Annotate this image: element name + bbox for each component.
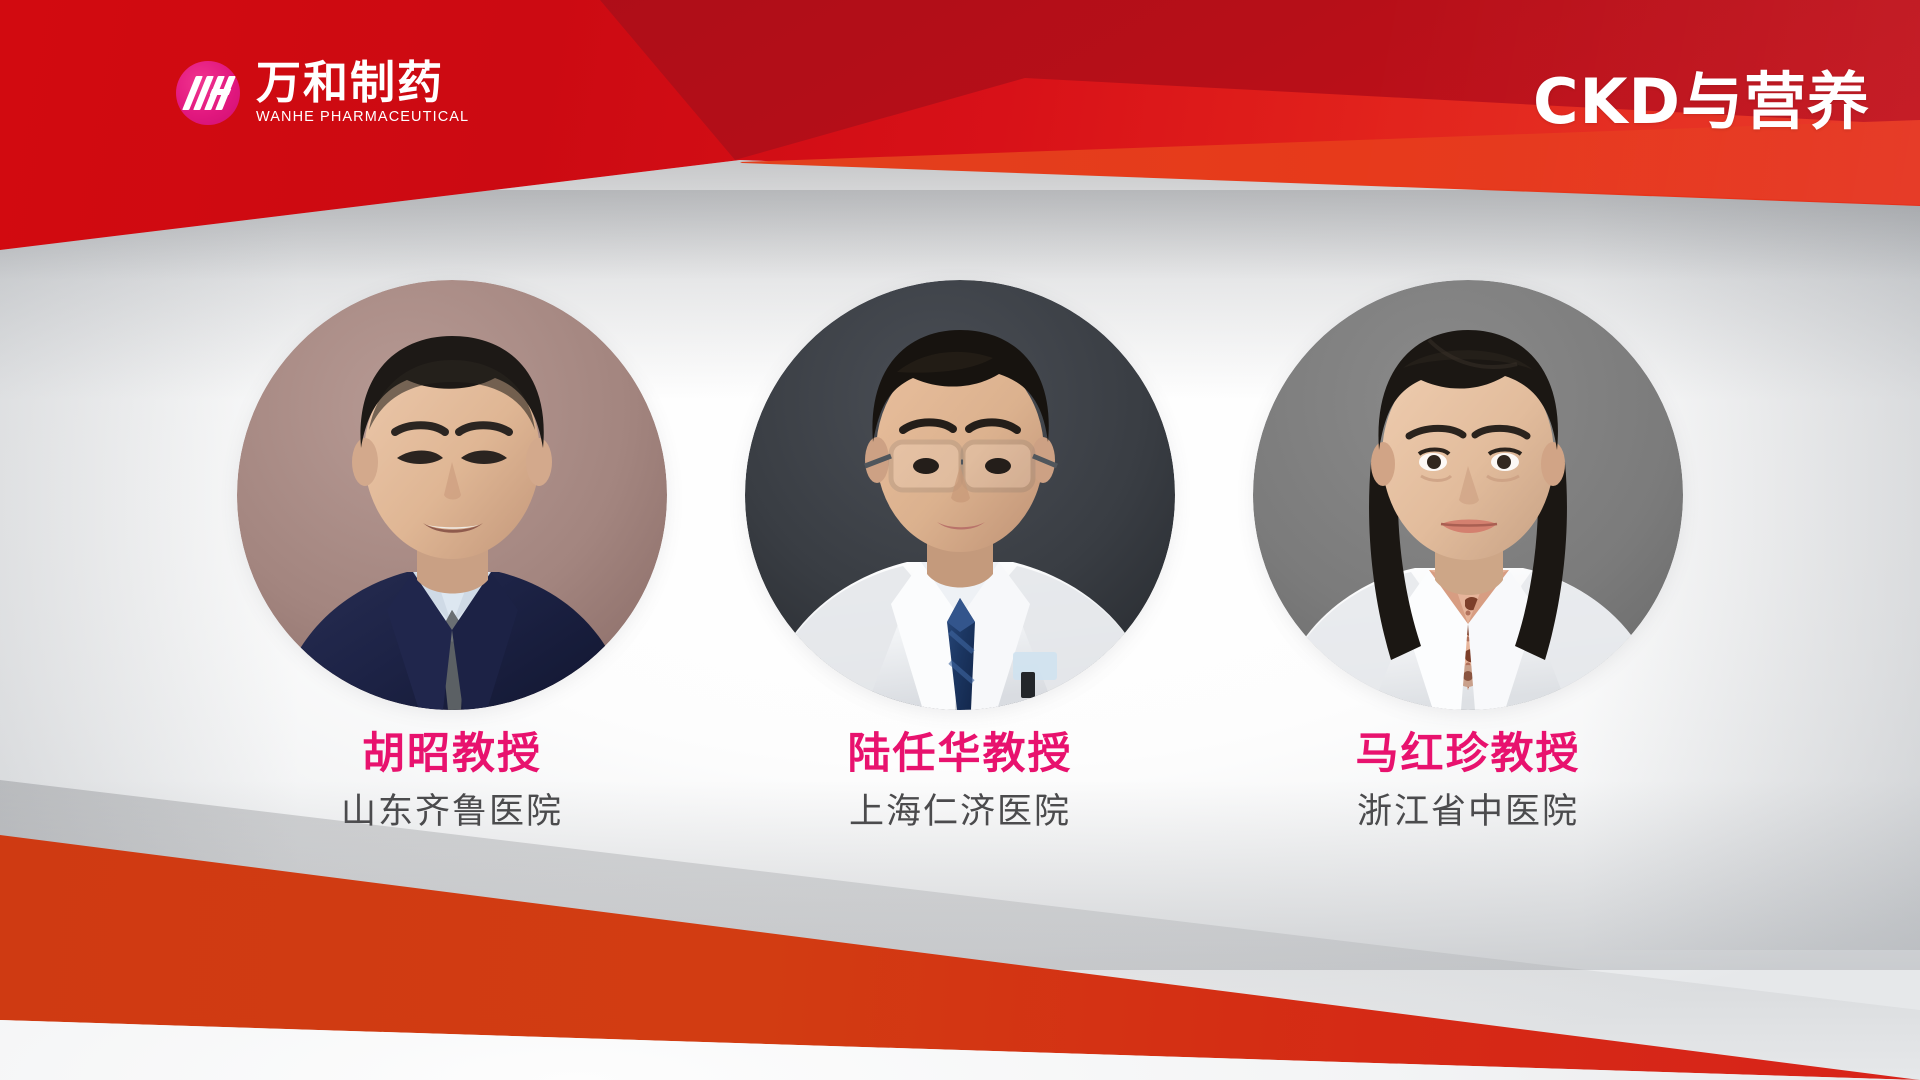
speaker-card[interactable]: 陆任华教授 上海仁济医院 bbox=[745, 280, 1175, 833]
speaker-name: 陆任华教授 bbox=[848, 730, 1073, 779]
avatar bbox=[237, 280, 667, 710]
slide-canvas: 万和制药 WANHE PHARMACEUTICAL CKD与营养 bbox=[0, 0, 1920, 1080]
wh-monogram-icon bbox=[176, 61, 240, 125]
brand-name-cn: 万和制药 bbox=[256, 60, 469, 105]
brand-name-en: WANHE PHARMACEUTICAL bbox=[256, 109, 469, 125]
avatar bbox=[745, 280, 1175, 710]
speaker-list: 胡昭教授 山东齐鲁医院 bbox=[0, 280, 1920, 833]
speaker-name: 马红珍教授 bbox=[1356, 730, 1581, 779]
monogram-crossbar bbox=[210, 89, 231, 95]
speaker-name: 胡昭教授 bbox=[362, 730, 542, 779]
page-title: CKD与营养 bbox=[1533, 68, 1870, 136]
brand-logo-text: 万和制药 WANHE PHARMACEUTICAL bbox=[256, 60, 469, 125]
avatar bbox=[1253, 280, 1683, 710]
bottom-red-wedge bbox=[0, 780, 1920, 1080]
brand-logo[interactable]: 万和制药 WANHE PHARMACEUTICAL bbox=[176, 60, 469, 125]
speaker-card[interactable]: 马红珍教授 浙江省中医院 bbox=[1253, 280, 1683, 833]
speaker-card[interactable]: 胡昭教授 山东齐鲁医院 bbox=[237, 280, 667, 833]
